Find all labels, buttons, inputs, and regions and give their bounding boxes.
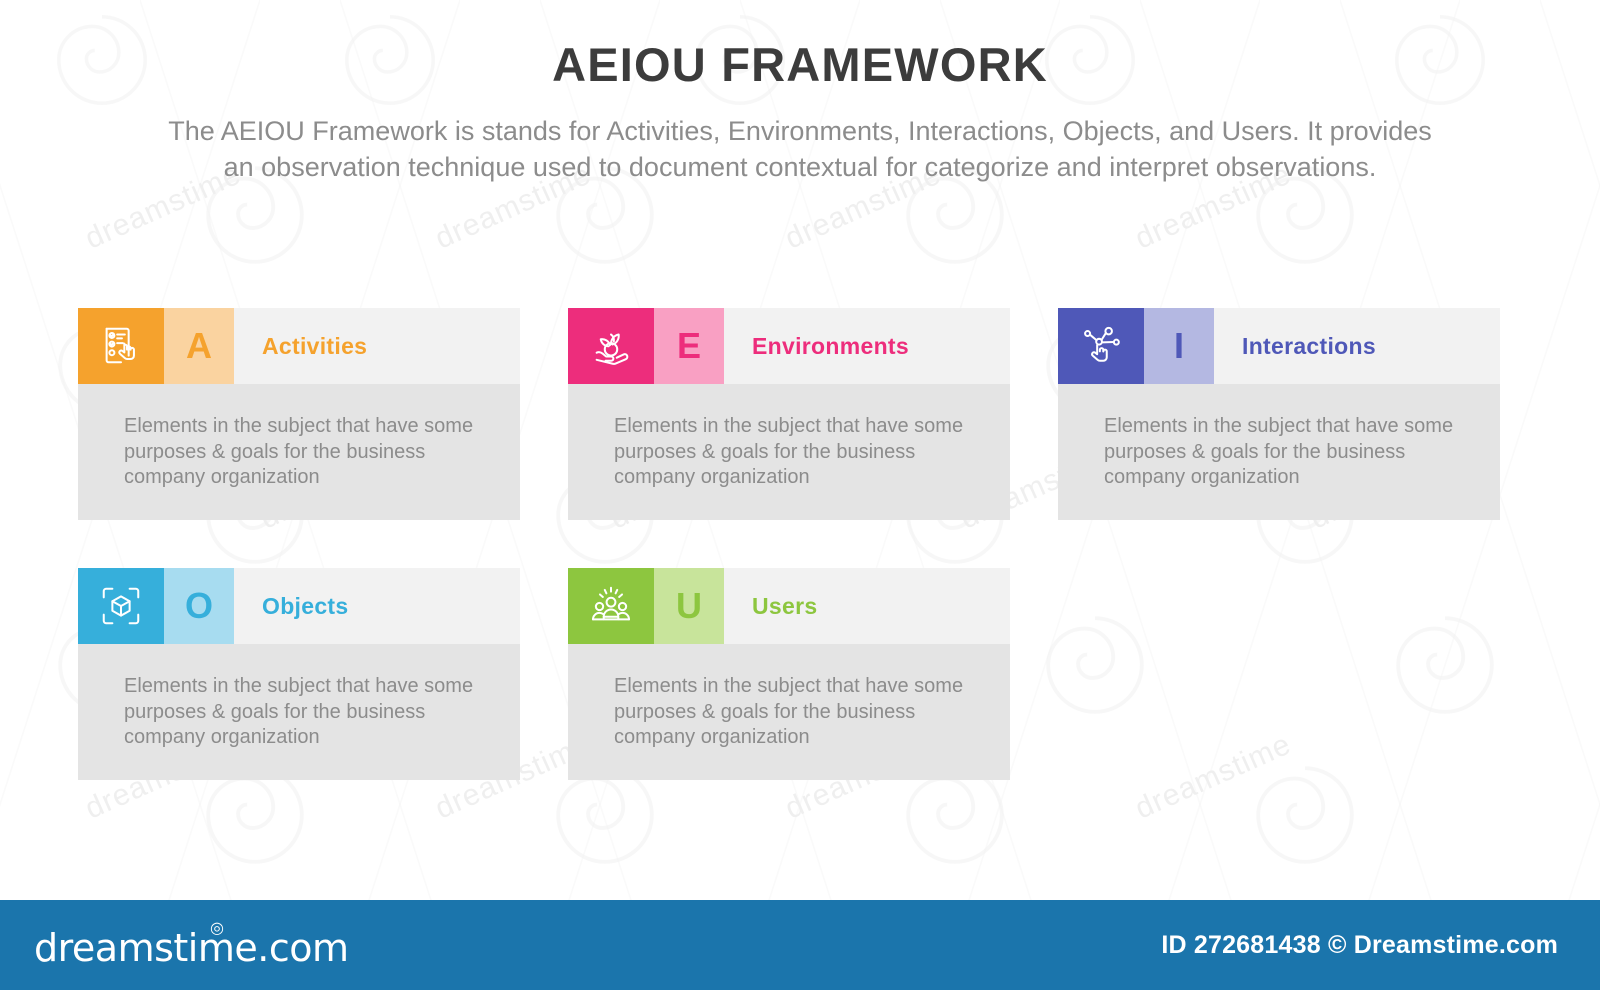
- registered-mark-icon: ◎: [210, 918, 223, 937]
- card-description: Elements in the subject that have some p…: [124, 414, 479, 491]
- card-letter: U: [676, 588, 702, 624]
- page-subtitle-line-2: an observation technique used to documen…: [85, 150, 1515, 186]
- card-letter-box: O: [164, 568, 234, 644]
- card-title-area: Objects: [234, 568, 520, 644]
- card-body: Elements in the subject that have some p…: [1058, 384, 1500, 520]
- card-letter-box: E: [654, 308, 724, 384]
- page-subtitle: The AEIOU Framework is stands for Activi…: [85, 114, 1515, 186]
- image-id-label: ID 272681438 © Dreamstime.com: [1161, 931, 1558, 960]
- card-description: Elements in the subject that have some p…: [614, 414, 969, 491]
- plant-in-hand-icon: [588, 323, 634, 369]
- card-title: Activities: [234, 333, 367, 360]
- card-header: EEnvironments: [568, 308, 1010, 384]
- card-body: Elements in the subject that have some p…: [78, 644, 520, 780]
- aeiou-card-environments[interactable]: EEnvironmentsElements in the subject tha…: [568, 308, 1010, 520]
- card-description: Elements in the subject that have some p…: [614, 674, 969, 751]
- card-header: OObjects: [78, 568, 520, 644]
- box-scan-icon: [98, 583, 144, 629]
- card-header: AActivities: [78, 308, 520, 384]
- footer-bar: dreamstime.com ◎ ID 272681438 © Dreamsti…: [0, 900, 1600, 990]
- card-header: UUsers: [568, 568, 1010, 644]
- card-title-area: Activities: [234, 308, 520, 384]
- network-touch-icon: [1078, 323, 1124, 369]
- aeiou-card-users[interactable]: UUsersElements in the subject that have …: [568, 568, 1010, 780]
- card-title: Users: [724, 593, 817, 620]
- checklist-hand-icon: [98, 323, 144, 369]
- aeiou-card-objects[interactable]: OObjectsElements in the subject that hav…: [78, 568, 520, 780]
- aeiou-card-interactions[interactable]: IInteractionsElements in the subject tha…: [1058, 308, 1500, 520]
- card-title-area: Environments: [724, 308, 1010, 384]
- card-body: Elements in the subject that have some p…: [568, 644, 1010, 780]
- page-header: AEIOU FRAMEWORK The AEIOU Framework is s…: [0, 0, 1600, 186]
- card-letter-box: I: [1144, 308, 1214, 384]
- page-title: AEIOU FRAMEWORK: [0, 38, 1600, 92]
- aeiou-card-activities[interactable]: AActivitiesElements in the subject that …: [78, 308, 520, 520]
- card-body: Elements in the subject that have some p…: [78, 384, 520, 520]
- box-scan-icon-box: [78, 568, 164, 644]
- aeiou-card-grid: AActivitiesElements in the subject that …: [78, 308, 1522, 780]
- card-letter-box: U: [654, 568, 724, 644]
- card-description: Elements in the subject that have some p…: [124, 674, 479, 751]
- card-letter: O: [185, 588, 213, 624]
- card-header: IInteractions: [1058, 308, 1500, 384]
- page-subtitle-line-1: The AEIOU Framework is stands for Activi…: [85, 114, 1515, 150]
- card-body: Elements in the subject that have some p…: [568, 384, 1010, 520]
- card-title: Environments: [724, 333, 909, 360]
- card-description: Elements in the subject that have some p…: [1104, 414, 1459, 491]
- infographic-page: AEIOU FRAMEWORK The AEIOU Framework is s…: [0, 0, 1600, 990]
- card-title-area: Users: [724, 568, 1010, 644]
- network-touch-icon-box: [1058, 308, 1144, 384]
- card-letter: I: [1174, 328, 1184, 364]
- card-title: Objects: [234, 593, 348, 620]
- users-group-icon: [588, 583, 634, 629]
- plant-in-hand-icon-box: [568, 308, 654, 384]
- checklist-hand-icon-box: [78, 308, 164, 384]
- card-letter: A: [186, 328, 212, 364]
- dreamstime-logo: dreamstime.com ◎: [34, 920, 348, 970]
- card-title-area: Interactions: [1214, 308, 1500, 384]
- dreamstime-logo-text: dreamstime.com: [34, 926, 348, 970]
- users-group-icon-box: [568, 568, 654, 644]
- card-title: Interactions: [1214, 333, 1376, 360]
- card-letter: E: [677, 328, 701, 364]
- card-letter-box: A: [164, 308, 234, 384]
